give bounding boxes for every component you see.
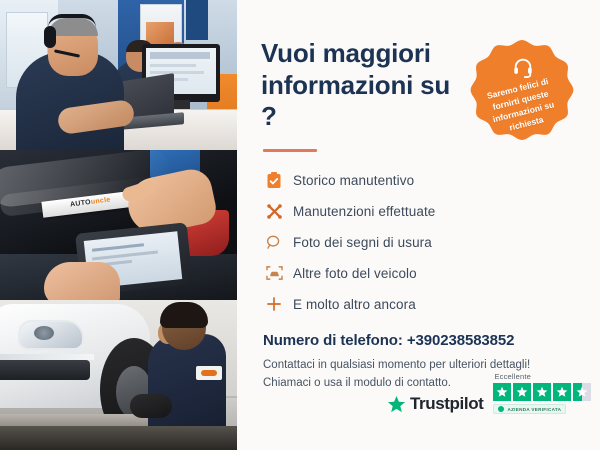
garage-floor [0,426,237,450]
screen-toolbar [150,52,210,59]
mechanic-glove [130,394,172,418]
trustpilot-logo[interactable]: Trustpilot [387,394,483,414]
list-item-label: E molto altro ancora [293,297,416,312]
page-title: Vuoi maggiori informazioni su ? [261,38,471,133]
headset-band [48,14,96,28]
trustpilot-score: Eccellente [493,372,591,414]
trustpilot-wordmark: Trustpilot [410,394,483,414]
uniform-badge-logo [201,370,217,376]
inspection-photo: AUTOuncle [0,150,237,300]
list-item-label: Foto dei segni di usura [293,235,432,250]
rating-label: Eccellente [494,372,531,381]
list-item: Manutenzioni effettuate [263,201,590,221]
verified-label: AZIENDA VERIFICATA [507,407,561,412]
list-item-label: Storico manutentivo [293,173,414,188]
verified-check-icon [498,406,504,412]
garage-wheel-photo [0,300,237,450]
callout-badge: Saremo felici di fornirti queste informa… [466,38,578,150]
magnifier-icon [263,232,285,252]
title-divider [263,149,317,152]
verified-badge: AZIENDA VERIFICATA [493,404,566,414]
screen-line [150,64,196,67]
list-item: Storico manutentivo [263,170,590,190]
headset-icon [512,56,534,78]
photo-column: AUTOuncle [0,0,237,450]
advertisement-card: AUTOuncle [0,0,600,450]
star-filled [493,383,511,401]
list-item: Foto dei segni di usura [263,232,590,252]
poster-image [146,22,174,44]
wall-banner [186,0,208,40]
wrench-cross-icon [263,201,285,221]
list-item: Altre foto del veicolo [263,263,590,283]
list-item-label: Manutenzioni effettuate [293,204,435,219]
car-frame-icon [263,263,285,283]
mechanic-hair [160,302,208,328]
feature-list: Storico manutentivo Manutenzioni effettu… [263,170,590,314]
star-half [573,383,591,401]
screen-line [150,71,204,74]
headlight-bulb [34,326,54,340]
star-filled [533,383,551,401]
call-center-photo [0,0,237,150]
headset-earcup [44,26,56,48]
phone-line: Numero di telefono: +390238583852 [263,332,590,349]
star-filled [553,383,571,401]
star-filled [513,383,531,401]
list-item: E molto altro ancora [263,294,590,314]
star-rating [493,383,591,401]
trustpilot-rating[interactable]: Trustpilot Eccellente [387,372,591,414]
clipboard-check-icon [263,170,285,190]
list-item-label: Altre foto del veicolo [293,266,417,281]
plus-icon [263,294,285,314]
content-panel: Vuoi maggiori informazioni su ? Saremo f… [237,0,600,450]
car-grille [0,360,90,380]
trustpilot-star-icon [387,395,406,414]
hand-holding-tablet [44,262,120,300]
